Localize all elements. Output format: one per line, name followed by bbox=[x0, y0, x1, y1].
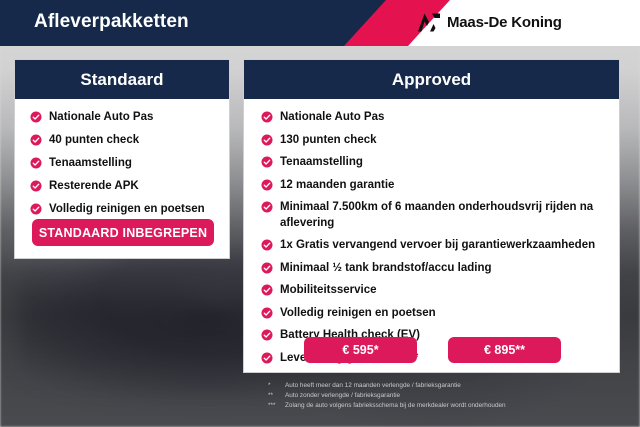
footnote-triple-asterisk: *** Zolang de auto volgens fabrieksschem… bbox=[268, 401, 618, 411]
standard-card-heading: Standaard bbox=[15, 60, 229, 99]
check-circle-icon bbox=[30, 111, 42, 123]
footnote-marker: * bbox=[268, 381, 281, 391]
list-item: 1x Gratis vervangend vervoer bij garanti… bbox=[261, 238, 619, 254]
list-item: Resterende APK bbox=[30, 179, 229, 195]
approved-package-card: Approved Nationale Auto Pas 130 punten c… bbox=[243, 59, 620, 373]
brand-name: Maas-De Koning bbox=[447, 14, 562, 31]
price-button-895[interactable]: € 895** bbox=[448, 337, 561, 363]
feature-label: Nationale Auto Pas bbox=[280, 110, 384, 126]
feature-label: 1x Gratis vervangend vervoer bij garanti… bbox=[280, 238, 595, 254]
top-banner: Afleverpakketten Maas-De Koning bbox=[0, 0, 640, 46]
feature-label: Minimaal 7.500km of 6 maanden onderhouds… bbox=[280, 200, 619, 231]
brand-lockup: Maas-De Koning bbox=[418, 12, 562, 32]
feature-label: 12 maanden garantie bbox=[280, 178, 394, 194]
check-circle-icon bbox=[30, 203, 42, 215]
feature-label: 40 punten check bbox=[49, 133, 139, 149]
approved-feature-list: Nationale Auto Pas 130 punten check Tena… bbox=[244, 99, 619, 366]
list-item: 40 punten check bbox=[30, 133, 229, 149]
check-circle-icon bbox=[30, 134, 42, 146]
check-circle-icon bbox=[261, 284, 273, 296]
footnote-marker: *** bbox=[268, 401, 281, 411]
list-item: Nationale Auto Pas bbox=[261, 110, 619, 126]
check-circle-icon bbox=[261, 201, 273, 213]
feature-label: Tenaamstelling bbox=[49, 156, 132, 172]
list-item: Tenaamstelling bbox=[30, 156, 229, 172]
list-item: 12 maanden garantie bbox=[261, 178, 619, 194]
list-item: Nationale Auto Pas bbox=[30, 110, 229, 126]
footnote-block: * Auto heeft meer dan 12 maanden verleng… bbox=[268, 381, 618, 411]
feature-label: Minimaal ½ tank brandstof/accu lading bbox=[280, 261, 492, 277]
standard-package-card: Standaard Nationale Auto Pas 40 punten c… bbox=[14, 59, 230, 259]
footnote-text: Auto heeft meer dan 12 maanden verlengde… bbox=[285, 381, 461, 391]
maas-de-koning-logo-icon bbox=[418, 12, 440, 32]
list-item: Volledig reinigen en poetsen bbox=[261, 306, 619, 322]
check-circle-icon bbox=[261, 156, 273, 168]
standard-feature-list: Nationale Auto Pas 40 punten check Tenaa… bbox=[15, 99, 229, 218]
footnote-single-asterisk: * Auto heeft meer dan 12 maanden verleng… bbox=[268, 381, 618, 391]
check-circle-icon bbox=[30, 180, 42, 192]
page-title: Afleverpakketten bbox=[34, 11, 189, 33]
list-item: Minimaal ½ tank brandstof/accu lading bbox=[261, 261, 619, 277]
list-item: Minimaal 7.500km of 6 maanden onderhouds… bbox=[261, 200, 619, 231]
check-circle-icon bbox=[261, 239, 273, 251]
price-button-595[interactable]: € 595* bbox=[304, 337, 417, 363]
approved-card-heading: Approved bbox=[244, 60, 619, 99]
list-item: Tenaamstelling bbox=[261, 155, 619, 171]
check-circle-icon bbox=[261, 111, 273, 123]
feature-label: Nationale Auto Pas bbox=[49, 110, 153, 126]
footnote-text: Auto zonder verlengde / fabrieksgarantie bbox=[285, 391, 400, 401]
feature-label: Resterende APK bbox=[49, 179, 139, 195]
feature-label: 130 punten check bbox=[280, 133, 377, 149]
list-item: Volledig reinigen en poetsen bbox=[30, 202, 229, 218]
list-item: 130 punten check bbox=[261, 133, 619, 149]
check-circle-icon bbox=[261, 179, 273, 191]
standaard-inbegrepen-button[interactable]: STANDAARD INBEGREPEN bbox=[32, 219, 214, 246]
footnote-double-asterisk: ** Auto zonder verlengde / fabrieksgaran… bbox=[268, 391, 618, 401]
footnote-text: Zolang de auto volgens fabrieksschema bi… bbox=[285, 401, 506, 411]
price-button-row: € 595* € 895** bbox=[244, 337, 621, 363]
feature-label: Mobiliteitsservice bbox=[280, 283, 377, 299]
check-circle-icon bbox=[30, 157, 42, 169]
check-circle-icon bbox=[261, 262, 273, 274]
check-circle-icon bbox=[261, 134, 273, 146]
feature-label: Volledig reinigen en poetsen bbox=[49, 202, 205, 218]
feature-label: Volledig reinigen en poetsen bbox=[280, 306, 436, 322]
footnote-marker: ** bbox=[268, 391, 281, 401]
list-item: Mobiliteitsservice bbox=[261, 283, 619, 299]
check-circle-icon bbox=[261, 307, 273, 319]
feature-label: Tenaamstelling bbox=[280, 155, 363, 171]
promo-slide: Afleverpakketten Maas-De Koning Standaar… bbox=[0, 0, 640, 427]
